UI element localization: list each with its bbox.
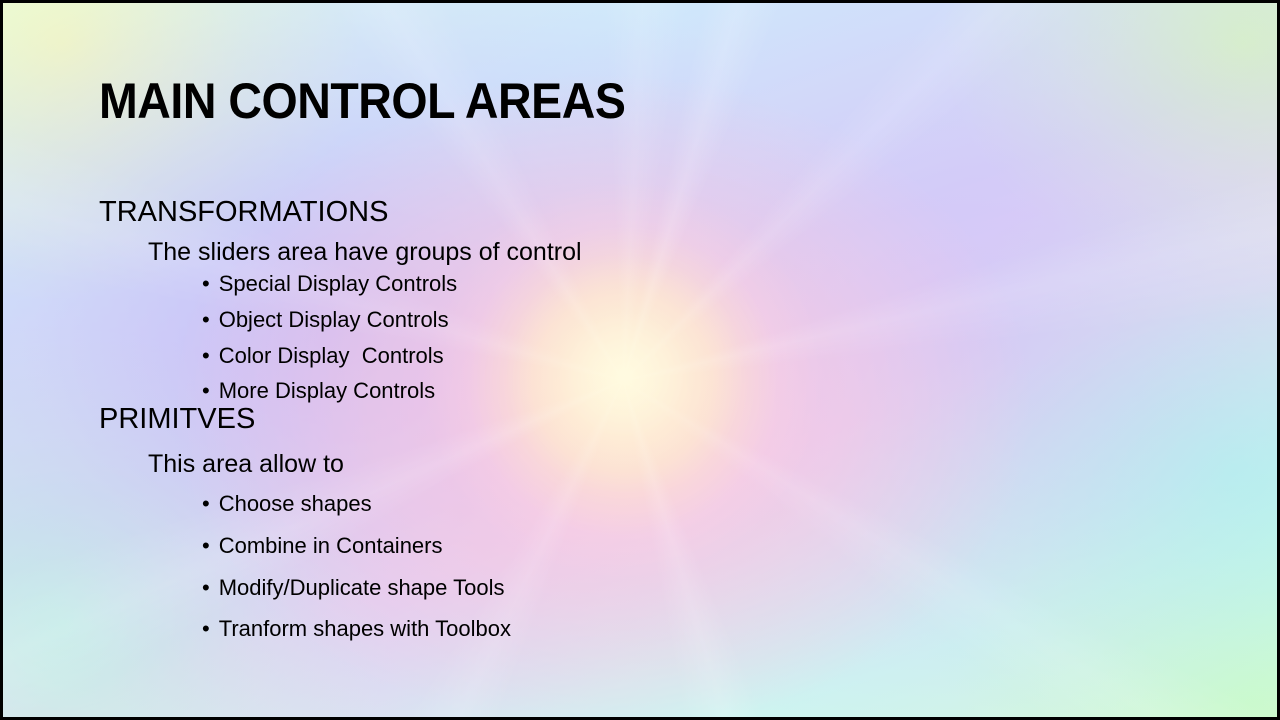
section-heading-transformations: TRANSFORMATIONS xyxy=(99,195,388,229)
bullet-dot-icon: • xyxy=(202,343,210,370)
section-intro-primitives: This area allow to xyxy=(148,449,344,479)
section-heading-primitives: PRIMITVES xyxy=(99,402,255,436)
bullet-list-transformations: • Special Display Controls • Object Disp… xyxy=(202,271,457,414)
list-item: • Object Display Controls xyxy=(202,307,457,334)
left-column: TRANSFORMATIONS The sliders area have gr… xyxy=(3,3,723,720)
list-item-label: Special Display Controls xyxy=(219,271,457,298)
list-item-label: Combine in Containers xyxy=(219,533,511,560)
bullet-dot-icon: • xyxy=(202,307,210,334)
list-item: • Color Display Controls xyxy=(202,343,457,370)
list-item-label: Color Display Controls xyxy=(219,343,457,370)
list-item-label: Tranform shapes with Toolbox xyxy=(219,616,511,643)
bullet-list-primitives: • Choose shapes • Combine in Containers … xyxy=(202,491,511,652)
bullet-dot-icon: • xyxy=(202,271,210,298)
list-item: • Modify/Duplicate shape Tools xyxy=(202,575,511,602)
list-item: • Tranform shapes with Toolbox xyxy=(202,616,511,643)
right-column: ARTOBJECTS This area allows you to • Sav… xyxy=(733,3,1279,720)
list-item: • Combine in Containers xyxy=(202,533,511,560)
list-item: • Choose shapes xyxy=(202,491,511,518)
list-item: • Special Display Controls xyxy=(202,271,457,298)
bullet-dot-icon: • xyxy=(202,616,210,643)
presentation-slide: MAIN CONTROL AREAS TRANSFORMATIONS The s… xyxy=(0,0,1280,720)
section-intro-transformations: The sliders area have groups of control xyxy=(148,237,582,267)
bullet-dot-icon: • xyxy=(202,533,210,560)
list-item-label: Choose shapes xyxy=(219,491,511,518)
list-item-label: Modify/Duplicate shape Tools xyxy=(219,575,511,602)
bullet-dot-icon: • xyxy=(202,491,210,518)
slide-content: MAIN CONTROL AREAS TRANSFORMATIONS The s… xyxy=(3,3,1277,717)
list-item-label: Object Display Controls xyxy=(219,307,457,334)
bullet-dot-icon: • xyxy=(202,575,210,602)
